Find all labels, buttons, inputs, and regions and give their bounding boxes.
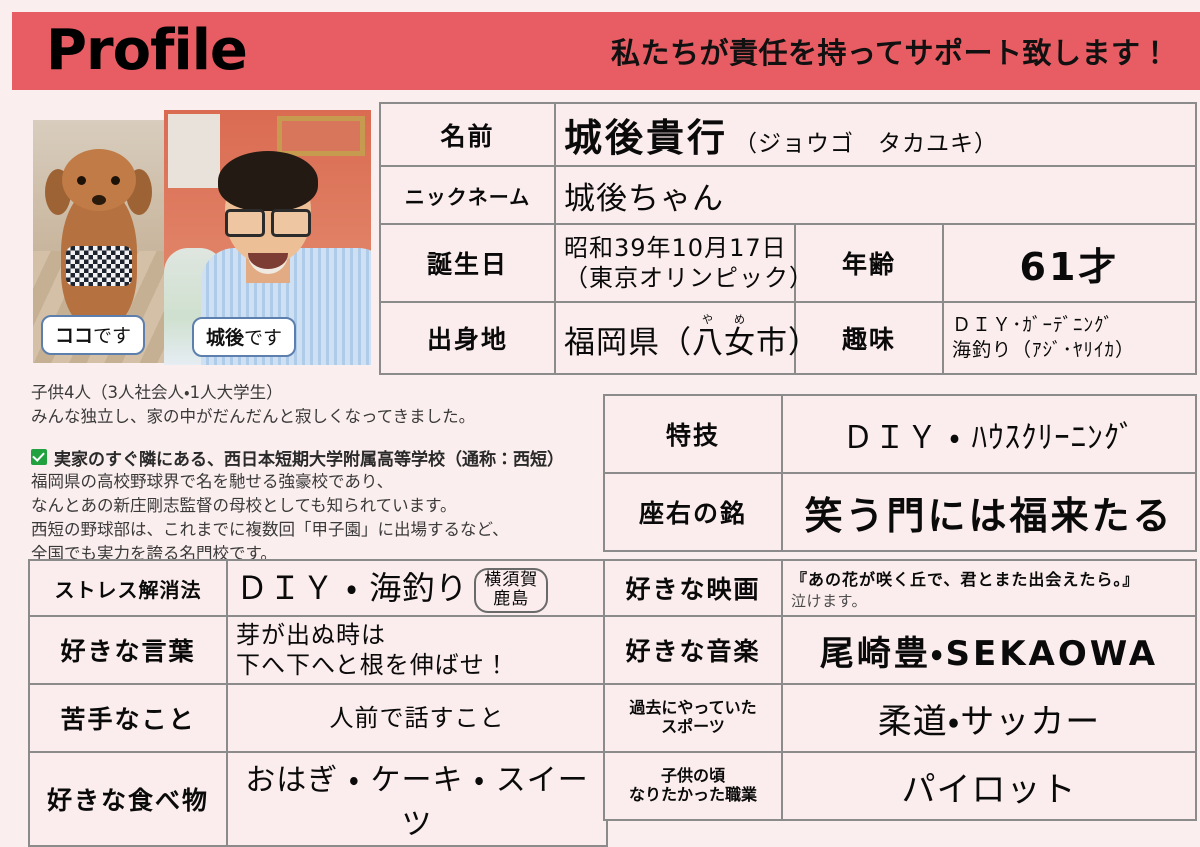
label-stress-relief: ストレス解消法	[29, 560, 227, 616]
value-weak-point: 人前で話すこと	[227, 684, 607, 752]
dog-photo-eye-right	[111, 176, 120, 185]
man-photo-door	[168, 114, 220, 188]
table-row-skill: 特技 ＤＩＹ ・ ﾊｳｽｸﾘｰﾆﾝｸﾞ	[604, 395, 1196, 473]
birthplace-ruby: 八女やめ	[692, 325, 756, 361]
label-birthday: 誕生日	[380, 224, 555, 302]
check-icon	[31, 449, 47, 465]
table-row-stress-relief: ストレス解消法 ＤＩＹ ・ 海釣り横須賀鹿島	[29, 560, 607, 616]
value-birthday: 昭和39年10月17日 （東京オリンピック）	[555, 224, 795, 302]
note-line-independent: みんな独立し、家の中がだんだんと寂しくなってきました。	[31, 405, 601, 429]
school-note-line-1: 福岡県の高校野球界で名を馳せる強豪校であり、	[31, 470, 601, 494]
family-and-school-note: 子供4人（3人社会人・1人大学生） みんな独立し、家の中がだんだんと寂しくなって…	[31, 381, 601, 566]
photo-group: ココです 城後です	[33, 110, 371, 365]
birthplace-ruby-base: 八女	[692, 325, 756, 361]
label-favorite-music: 好きな音楽	[604, 616, 782, 684]
favorite-movie-comment: 泣けます。	[791, 590, 1187, 611]
label-age: 年齢	[795, 224, 943, 302]
value-favorite-food: おはぎ ・ ケーキ ・ スイーツ	[227, 752, 607, 846]
basic-info-table: 名前 城後貴行（ジョウゴ タカユキ） ニックネーム 城後ちゃん 誕生日 昭和39…	[379, 102, 1197, 375]
school-headline: 実家のすぐ隣にある、西日本短期大学附属高等学校（通称：西短）	[31, 445, 601, 470]
value-favorite-movie: 『あの花が咲く丘で、君とまた出会えたら。』 泣けます。	[782, 560, 1196, 616]
dog-caption-name: ココ	[55, 325, 93, 347]
dog-photo-caption: ココです	[41, 315, 145, 355]
glasses-icon	[225, 209, 311, 231]
hobby-line2: 海釣り（ｱｼﾞ･ﾔﾘｲｶ）	[952, 338, 1187, 363]
value-name: 城後貴行（ジョウゴ タカユキ）	[555, 103, 1196, 166]
value-favorite-words: 芽が出ぬ時は 下へ下へと根を伸ばせ！	[227, 616, 607, 684]
value-past-sports: 柔道・サッカー	[782, 684, 1196, 752]
label-childhood-dream-line2: なりたかった職業	[613, 786, 773, 805]
label-past-sports: 過去にやっていた スポーツ	[604, 684, 782, 752]
places-badge-line1: 横須賀	[484, 571, 538, 590]
label-birthplace: 出身地	[380, 302, 555, 374]
table-row-past-sports: 過去にやっていた スポーツ 柔道・サッカー	[604, 684, 1196, 752]
man-photo-hair	[218, 151, 318, 211]
table-row-childhood-dream: 子供の頃 なりたかった職業 パイロット	[604, 752, 1196, 820]
birthday-line1: 昭和39年10月17日	[564, 233, 786, 263]
skills-motto-table: 特技 ＤＩＹ ・ ﾊｳｽｸﾘｰﾆﾝｸﾞ 座右の銘 笑う門には福来たる	[603, 394, 1197, 552]
personal-favorites-left-table: ストレス解消法 ＤＩＹ ・ 海釣り横須賀鹿島 好きな言葉 芽が出ぬ時は 下へ下へ…	[28, 559, 608, 847]
header-bar: Profile 私たちが責任を持ってサポート致します！	[12, 12, 1200, 90]
school-note-line-2: なんとあの新庄剛志監督の母校としても知られています。	[31, 494, 601, 518]
places-badge: 横須賀鹿島	[474, 568, 548, 612]
label-nickname: ニックネーム	[380, 166, 555, 224]
man-photo: 城後です	[164, 110, 371, 365]
value-nickname: 城後ちゃん	[555, 166, 1196, 224]
label-childhood-dream: 子供の頃 なりたかった職業	[604, 752, 782, 820]
value-favorite-music: 尾崎豊・SEKAOWA	[782, 616, 1196, 684]
value-motto: 笑う門には福来たる	[782, 473, 1196, 551]
stress-relief-text: ＤＩＹ ・ 海釣り	[236, 569, 468, 607]
hobby-line1: ＤＩＹ･ｶﾞｰﾃﾞﾆﾝｸﾞ	[952, 313, 1187, 338]
note-line-children: 子供4人（3人社会人・1人大学生）	[31, 381, 601, 405]
dog-photo-eye-left	[77, 176, 86, 185]
table-row-nickname: ニックネーム 城後ちゃん	[380, 166, 1196, 224]
table-row-birthday-age: 誕生日 昭和39年10月17日 （東京オリンピック） 年齢 61才	[380, 224, 1196, 302]
favorite-words-line2: 下へ下へと根を伸ばせ！	[236, 650, 598, 680]
dog-photo-harness	[66, 246, 132, 286]
school-note-line-3: 西短の野球部は、これまでに複数回「甲子園」に出場するなど、	[31, 518, 601, 542]
favorite-movie-title: 『あの花が咲く丘で、君とまた出会えたら。』	[791, 566, 1187, 590]
table-row-birthplace-hobby: 出身地 福岡県（八女やめ市） 趣味 ＤＩＹ･ｶﾞｰﾃﾞﾆﾝｸﾞ 海釣り（ｱｼﾞ･…	[380, 302, 1196, 374]
table-row-motto: 座右の銘 笑う門には福来たる	[604, 473, 1196, 551]
label-favorite-food: 好きな食べ物	[29, 752, 227, 846]
dog-photo: ココです	[33, 120, 164, 363]
table-row-weak-point: 苦手なこと 人前で話すこと	[29, 684, 607, 752]
name-text: 城後貴行	[564, 116, 728, 160]
label-weak-point: 苦手なこと	[29, 684, 227, 752]
dog-photo-nose	[92, 195, 106, 205]
label-past-sports-line2: スポーツ	[613, 718, 773, 737]
label-favorite-words: 好きな言葉	[29, 616, 227, 684]
dog-caption-tail: です	[93, 325, 131, 347]
man-photo-caption: 城後です	[192, 317, 296, 357]
value-hobby: ＤＩＹ･ｶﾞｰﾃﾞﾆﾝｸﾞ 海釣り（ｱｼﾞ･ﾔﾘｲｶ）	[943, 302, 1196, 374]
profile-page: Profile 私たちが責任を持ってサポート致します！ ココです	[0, 0, 1200, 844]
label-favorite-movie: 好きな映画	[604, 560, 782, 616]
man-caption-tail: です	[244, 327, 282, 349]
places-badge-line2: 鹿島	[484, 590, 538, 609]
label-skill: 特技	[604, 395, 782, 473]
label-childhood-dream-line1: 子供の頃	[613, 767, 773, 786]
favorite-words-line1: 芽が出ぬ時は	[236, 620, 598, 650]
label-motto: 座右の銘	[604, 473, 782, 551]
birthplace-ruby-reading: やめ	[692, 313, 756, 326]
school-headline-text: 実家のすぐ隣にある、西日本短期大学附属高等学校（通称：西短）	[54, 445, 564, 470]
table-row-favorite-movie: 好きな映画 『あの花が咲く丘で、君とまた出会えたら。』 泣けます。	[604, 560, 1196, 616]
value-childhood-dream: パイロット	[782, 752, 1196, 820]
header-tagline: 私たちが責任を持ってサポート致します！	[611, 30, 1182, 72]
name-kana: （ジョウゴ タカユキ）	[734, 130, 998, 156]
personal-favorites-right-table: 好きな映画 『あの花が咲く丘で、君とまた出会えたら。』 泣けます。 好きな音楽 …	[603, 559, 1197, 821]
table-row-favorite-words: 好きな言葉 芽が出ぬ時は 下へ下へと根を伸ばせ！	[29, 616, 607, 684]
table-row-favorite-music: 好きな音楽 尾崎豊・SEKAOWA	[604, 616, 1196, 684]
value-birthplace: 福岡県（八女やめ市）	[555, 302, 795, 374]
table-row-favorite-food: 好きな食べ物 おはぎ ・ ケーキ ・ スイーツ	[29, 752, 607, 846]
value-skill: ＤＩＹ ・ ﾊｳｽｸﾘｰﾆﾝｸﾞ	[782, 395, 1196, 473]
page-title: Profile	[46, 23, 247, 79]
birthplace-prefix: 福岡県（	[564, 325, 692, 361]
birthplace-suffix: 市）	[756, 325, 820, 361]
man-caption-name: 城後	[206, 327, 244, 349]
table-row-name: 名前 城後貴行（ジョウゴ タカユキ）	[380, 103, 1196, 166]
label-name: 名前	[380, 103, 555, 166]
man-photo-picture-frame	[277, 116, 365, 156]
value-age: 61才	[943, 224, 1196, 302]
birthday-line2: （東京オリンピック）	[564, 263, 786, 293]
label-past-sports-line1: 過去にやっていた	[613, 699, 773, 718]
value-stress-relief: ＤＩＹ ・ 海釣り横須賀鹿島	[227, 560, 607, 616]
